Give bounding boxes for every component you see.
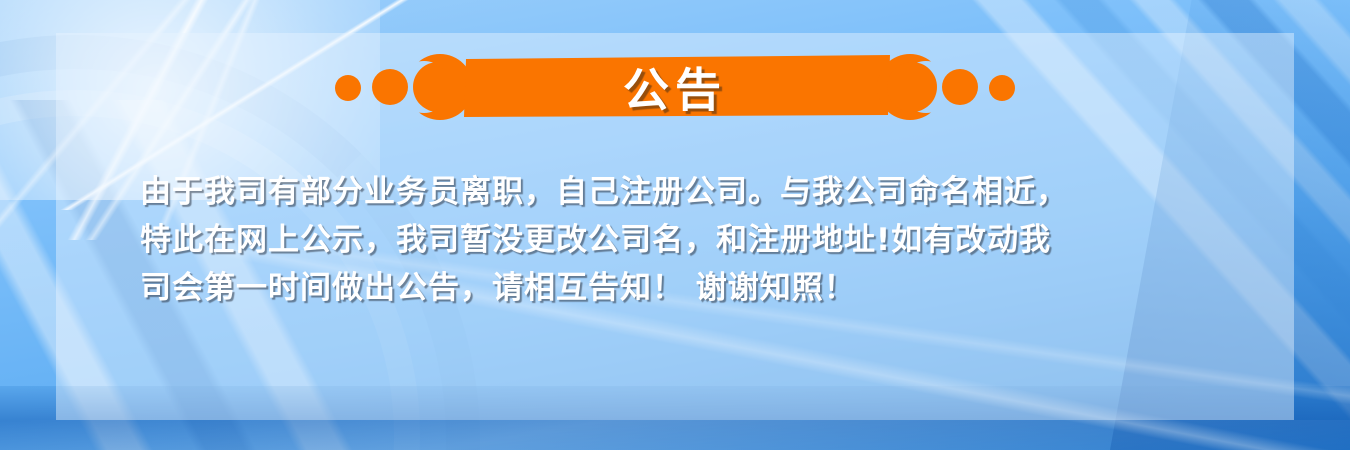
banner-title: 公告 [0,54,1350,120]
bottom-band-highlight [0,420,1350,450]
announcement-body: 由于我司有部分业务员离职，自己注册公司。与我公司命名相近， 特此在网上公示，我司… [140,168,1230,312]
announcement-line: 特此在网上公示，我司暂没更改公司名，和注册地址!如有改动我 [140,216,1230,264]
announcement-line: 司会第一时间做出公告，请相互告知！ 谢谢知照！ [140,264,1230,312]
announcement-banner: 公告 由于我司有部分业务员离职，自己注册公司。与我公司命名相近， 特此在网上公示… [0,0,1350,450]
announcement-line: 由于我司有部分业务员离职，自己注册公司。与我公司命名相近， [140,168,1230,216]
